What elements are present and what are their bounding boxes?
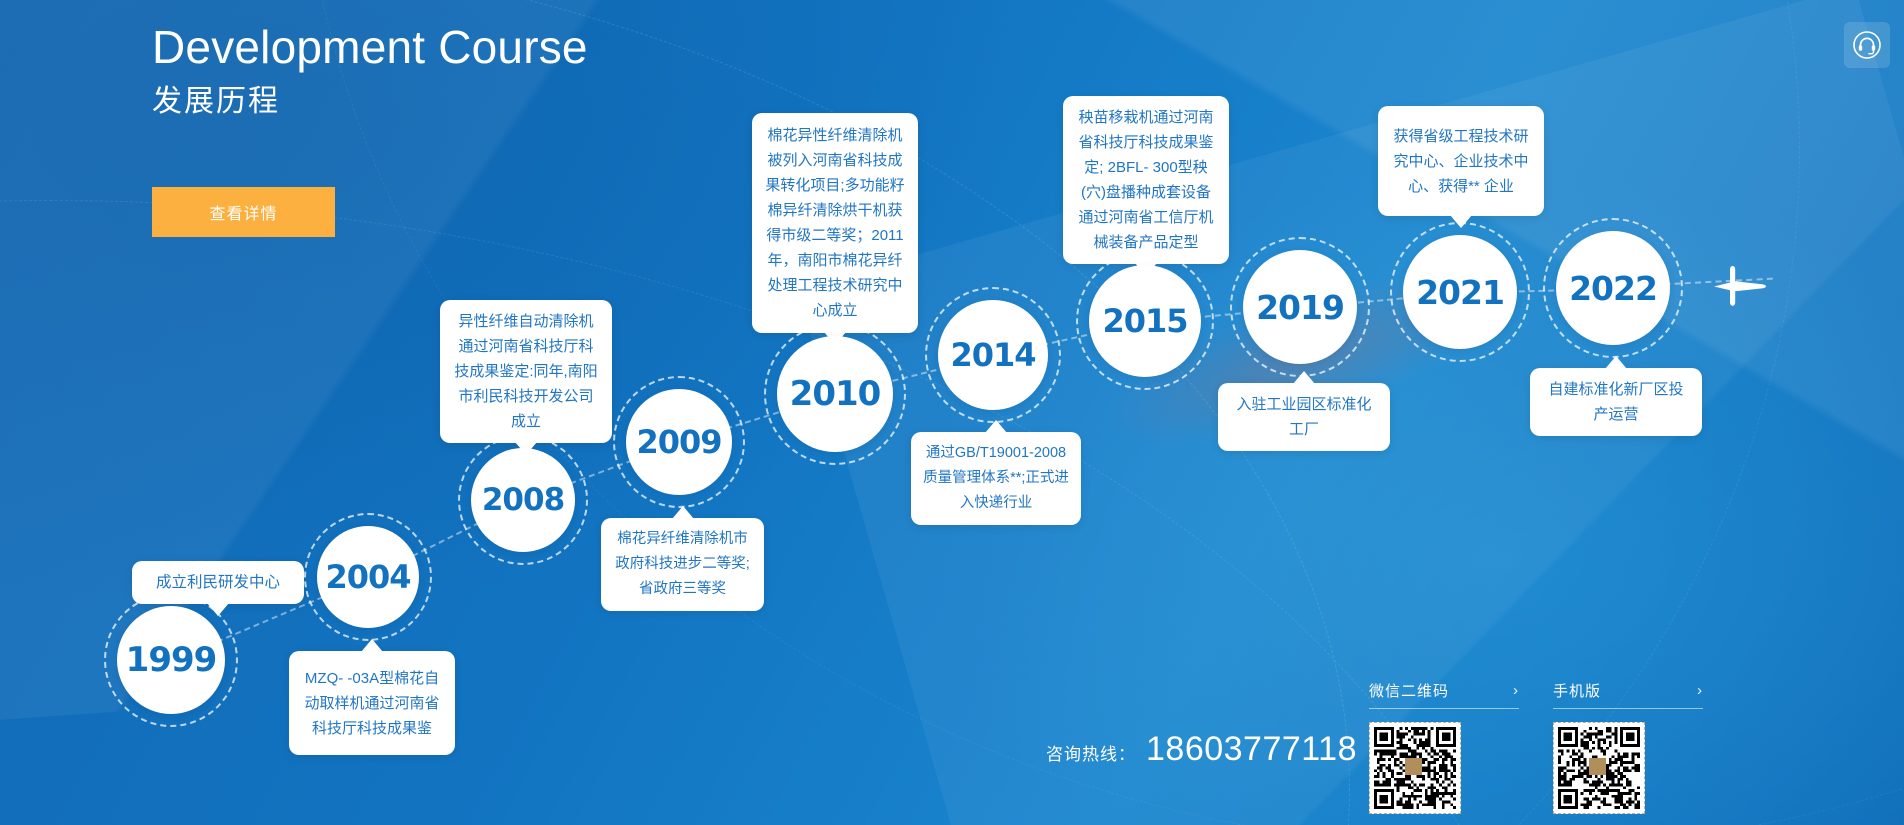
timeline-card-text: 入驻工业园区标准化工厂 — [1230, 392, 1378, 442]
qr-header-wechat[interactable]: 微信二维码 › — [1369, 680, 1519, 709]
timeline-node-year: 1999 — [126, 640, 217, 680]
timeline-card-2021: 获得省级工程技术研究中心、企业技术中心、获得** 企业 — [1378, 106, 1544, 216]
timeline-node-2022[interactable]: 2022 — [1556, 231, 1670, 345]
timeline-card-2015: 秧苗移栽机通过河南省科技厅科技成果鉴定; 2BFL- 300型秧(穴)盘播种成套… — [1063, 96, 1229, 264]
timeline-card-2019: 入驻工业园区标准化工厂 — [1218, 383, 1390, 451]
timeline-card-2008: 异性纤维自动清除机通过河南省科技厅科技成果鉴定:同年,南阳市利民科技开发公司成立 — [440, 300, 612, 443]
timeline-card-text: MZQ- -03A型棉花自动取样机通过河南省科技厅科技成果鉴 — [301, 666, 443, 741]
timeline-card-2010: 棉花异性纤维清除机被列入河南省科技成果转化项目;多功能籽棉异纤清除烘干机获得市级… — [752, 113, 918, 333]
timeline-node-1999[interactable]: 1999 — [117, 606, 225, 714]
qr-header-mobile[interactable]: 手机版 › — [1553, 680, 1703, 709]
qr-code-wechat — [1369, 722, 1461, 814]
timeline-node-2008[interactable]: 2008 — [471, 448, 575, 552]
timeline-node-2015[interactable]: 2015 — [1089, 265, 1201, 377]
card-pointer — [672, 506, 694, 519]
timeline-node-2021[interactable]: 2021 — [1403, 235, 1517, 349]
timeline-card-2022: 自建标准化新厂区投产运营 — [1530, 368, 1702, 436]
customer-service-button[interactable] — [1844, 22, 1890, 68]
timeline-node-2019[interactable]: 2019 — [1243, 250, 1357, 364]
hotline-number: 18603777118 — [1146, 730, 1357, 769]
hotline-label: 咨询热线： — [1046, 740, 1136, 765]
qr-block-mobile[interactable]: 手机版 › — [1553, 680, 1703, 814]
timeline-node-year: 2008 — [482, 482, 564, 518]
qr-block-wechat[interactable]: 微信二维码 › — [1369, 680, 1519, 814]
timeline-node-2014[interactable]: 2014 — [938, 300, 1048, 410]
timeline-node-year: 2009 — [636, 423, 721, 461]
hotline: 咨询热线： 18603777118 — [1046, 730, 1357, 769]
page-title-cn: 发展历程 — [152, 80, 588, 124]
timeline-node-year: 2021 — [1416, 273, 1504, 312]
development-course-page: Development Course 发展历程 查看详情 1999成立利民研发中… — [0, 0, 1904, 825]
timeline-card-text: 获得省级工程技术研究中心、企业技术中心、获得** 企业 — [1390, 124, 1532, 199]
card-pointer — [1605, 356, 1627, 369]
timeline-card-2009: 棉花异纤维清除机市政府科技进步二等奖; 省政府三等奖 — [601, 518, 764, 611]
timeline-node-2004[interactable]: 2004 — [317, 526, 419, 628]
page-title: Development Course 发展历程 — [152, 18, 588, 124]
qr-label-mobile: 手机版 — [1553, 680, 1601, 701]
qr-code-mobile — [1553, 722, 1645, 814]
view-detail-button[interactable]: 查看详情 — [152, 187, 335, 237]
qr-label-wechat: 微信二维码 — [1369, 680, 1449, 701]
timeline-card-text: 成立利民研发中心 — [156, 570, 280, 595]
timeline-card-text: 异性纤维自动清除机通过河南省科技厅科技成果鉴定:同年,南阳市利民科技开发公司成立 — [452, 309, 600, 434]
headset-icon — [1853, 31, 1881, 59]
page-title-en: Development Course — [152, 18, 588, 76]
timeline-node-year: 2014 — [950, 336, 1035, 374]
timeline-card-text: 秧苗移栽机通过河南省科技厅科技成果鉴定; 2BFL- 300型秧(穴)盘播种成套… — [1075, 105, 1217, 255]
timeline-card-text: 通过GB/T19001-2008质量管理体系**;正式进入快递行业 — [923, 441, 1069, 516]
timeline-node-2009[interactable]: 2009 — [626, 389, 732, 495]
timeline-card-2014: 通过GB/T19001-2008质量管理体系**;正式进入快递行业 — [911, 432, 1081, 525]
timeline-card-text: 自建标准化新厂区投产运营 — [1542, 377, 1690, 427]
timeline-node-year: 2015 — [1102, 302, 1187, 340]
airplane-icon — [1712, 262, 1768, 315]
timeline-card-text: 棉花异纤维清除机市政府科技进步二等奖; 省政府三等奖 — [613, 527, 752, 602]
chevron-right-icon: › — [1513, 682, 1519, 699]
timeline-card-text: 棉花异性纤维清除机被列入河南省科技成果转化项目;多功能籽棉异纤清除烘干机获得市级… — [764, 123, 906, 323]
timeline-node-year: 2022 — [1569, 269, 1657, 308]
timeline-node-year: 2019 — [1256, 288, 1344, 327]
timeline-card-2004: MZQ- -03A型棉花自动取样机通过河南省科技厅科技成果鉴 — [289, 651, 455, 755]
timeline-node-2010[interactable]: 2010 — [777, 336, 893, 452]
chevron-right-icon: › — [1697, 682, 1703, 699]
timeline-node-year: 2004 — [325, 558, 410, 596]
timeline-node-year: 2010 — [790, 374, 881, 414]
